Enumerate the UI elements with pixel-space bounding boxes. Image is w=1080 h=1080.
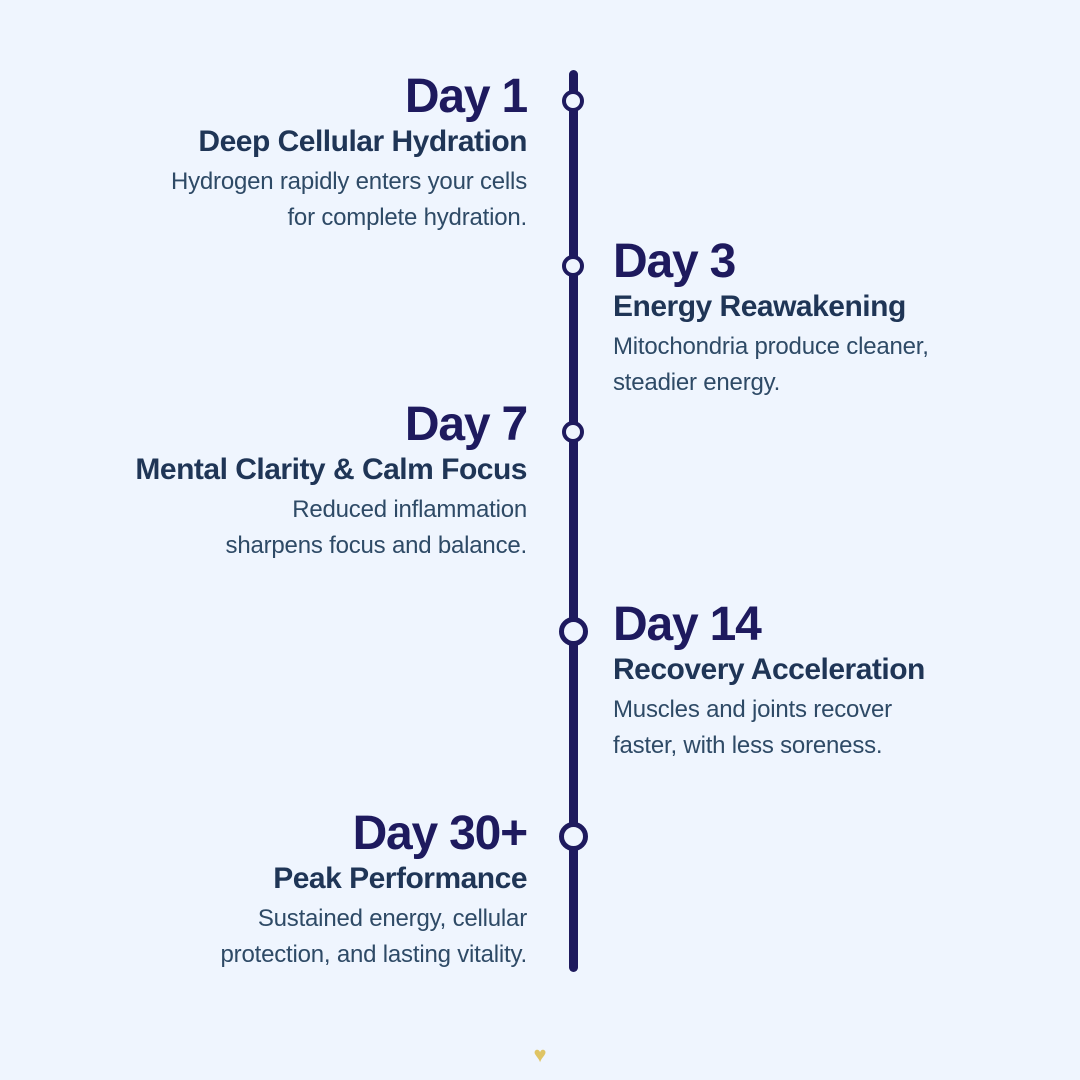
timeline-entry-title: Energy Reawakening [613, 291, 929, 323]
timeline-entry-description: Hydrogen rapidly enters your cells for c… [171, 164, 527, 235]
timeline-entry-title: Peak Performance [221, 863, 527, 895]
timeline-node-day-1 [562, 90, 584, 112]
timeline-entry-description: Mitochondria produce cleaner, steadier e… [613, 329, 929, 400]
timeline-entry-day-label: Day 14 [613, 601, 925, 649]
timeline-entry-description: Muscles and joints recover faster, with … [613, 692, 925, 763]
timeline-entry-day-3: Day 3 Energy Reawakening Mitochondria pr… [613, 238, 929, 400]
timeline-node-day-30 [559, 822, 588, 851]
heart-icon: ♥ [0, 1044, 1080, 1066]
timeline-infographic: Day 1 Deep Cellular Hydration Hydrogen r… [0, 0, 1080, 1080]
timeline-entry-day-30: Day 30+ Peak Performance Sustained energ… [221, 810, 527, 972]
timeline-entry-day-label: Day 7 [135, 401, 527, 449]
timeline-entry-day-label: Day 3 [613, 238, 929, 286]
timeline-entry-title: Mental Clarity & Calm Focus [135, 454, 527, 486]
timeline-entry-day-label: Day 1 [171, 73, 527, 121]
timeline-entry-title: Deep Cellular Hydration [171, 126, 527, 158]
timeline-node-day-7 [562, 421, 584, 443]
timeline-entry-title: Recovery Acceleration [613, 654, 925, 686]
timeline-entry-day-1: Day 1 Deep Cellular Hydration Hydrogen r… [171, 73, 527, 235]
timeline-node-day-3 [562, 255, 584, 277]
timeline-entry-description: Sustained energy, cellular protection, a… [221, 901, 527, 972]
timeline-entry-day-label: Day 30+ [221, 810, 527, 858]
timeline-entry-day-14: Day 14 Recovery Acceleration Muscles and… [613, 601, 925, 763]
timeline-entry-day-7: Day 7 Mental Clarity & Calm Focus Reduce… [135, 401, 527, 563]
timeline-entry-description: Reduced inflammation sharpens focus and … [135, 492, 527, 563]
timeline-node-day-14 [559, 617, 588, 646]
